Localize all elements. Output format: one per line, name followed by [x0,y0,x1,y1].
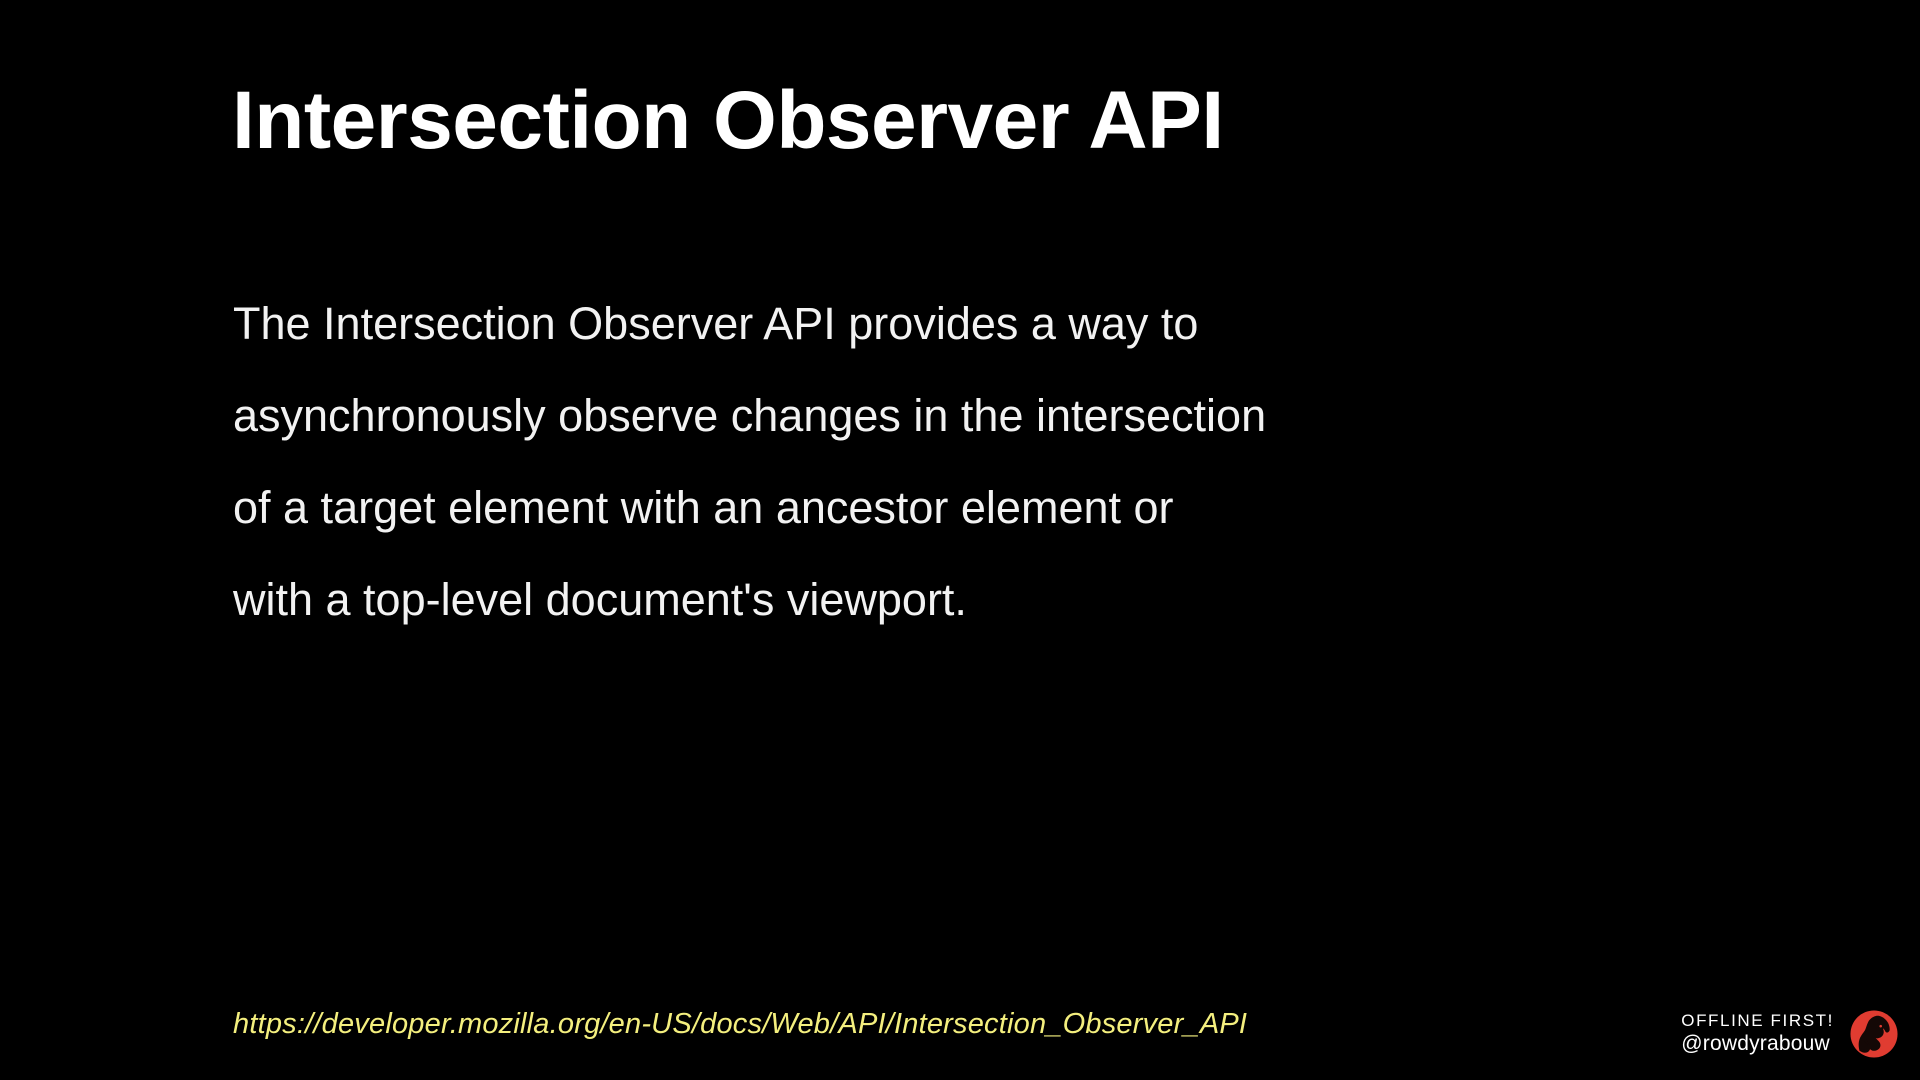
body-line: asynchronously observe changes in the in… [233,370,1523,462]
branding-title: OFFLINE FIRST! [1681,1010,1834,1032]
branding: OFFLINE FIRST! @rowdyrabouw [1681,1006,1902,1062]
body-paragraph: The Intersection Observer API provides a… [233,278,1523,646]
body-line: with a top-level document's viewport. [233,554,1523,646]
branding-handle: @rowdyrabouw [1681,1031,1830,1058]
branding-text: OFFLINE FIRST! @rowdyrabouw [1681,1010,1834,1059]
page-title: Intersection Observer API [232,78,1224,165]
trex-circle-logo-icon [1846,1006,1902,1062]
body-line: of a target element with an ancestor ele… [233,462,1523,554]
body-line: The Intersection Observer API provides a… [233,278,1523,370]
slide-root: Intersection Observer API The Intersecti… [0,0,1920,1080]
source-url-link[interactable]: https://developer.mozilla.org/en-US/docs… [233,1008,1247,1041]
